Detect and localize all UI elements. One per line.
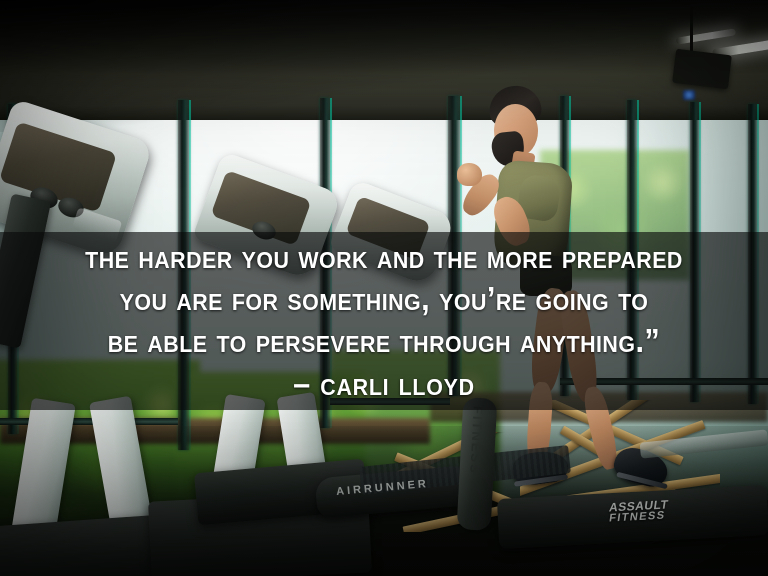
quote-line-1: The harder you work and the more prepare… — [44, 236, 725, 278]
quote-attribution: – Carli Lloyd — [44, 364, 725, 404]
quote-line-3: be able to persevere through anything.” — [44, 320, 725, 362]
quote-text: The harder you work and the more prepare… — [44, 236, 725, 362]
quote-image: AIRRUNNER FITNESS ASSAULT FITNESS The ha… — [0, 0, 768, 576]
runner-fist — [457, 163, 482, 186]
assault-fitness-logo: ASSAULT FITNESS — [590, 497, 685, 525]
quote-overlay-band: The harder you work and the more prepare… — [0, 232, 768, 410]
quote-line-2: you are for something, you’re going to — [44, 278, 725, 320]
